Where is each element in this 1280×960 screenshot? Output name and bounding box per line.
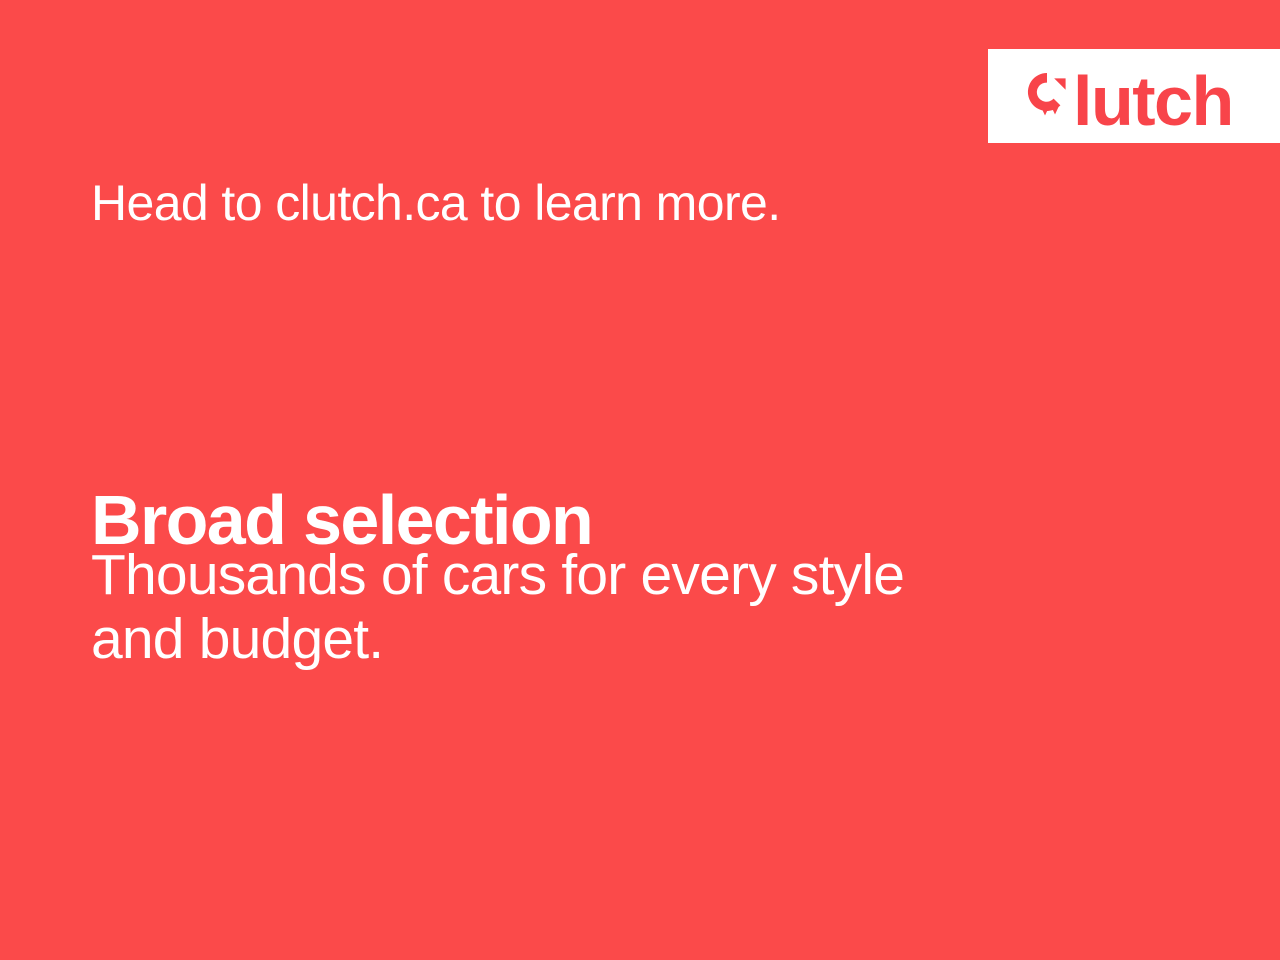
brand-logo-plate[interactable]: lutch [988, 49, 1280, 143]
slide-canvas: lutch Head to clutch.ca to learn more. B… [0, 0, 1280, 960]
subtitle-line-2: and budget. [91, 607, 1071, 671]
clutch-logo-lockup[interactable]: lutch [1024, 64, 1233, 128]
subtitle-text: Thousands of cars for every style and bu… [91, 543, 1071, 672]
eyebrow-text: Head to clutch.ca to learn more. [91, 178, 781, 228]
clutch-c-mark-icon [1024, 69, 1070, 123]
clutch-wordmark: lutch [1073, 66, 1233, 136]
subtitle-line-1: Thousands of cars for every style [91, 543, 1071, 607]
